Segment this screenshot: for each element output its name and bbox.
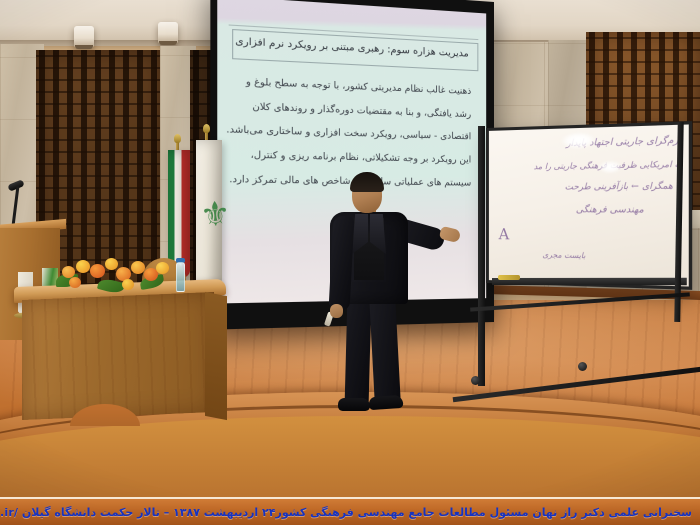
whiteboard-line: بایست مجری [542,250,585,260]
presenter-right-leg [369,295,401,404]
flower-arrangement [52,258,178,292]
whiteboard-glare [598,161,622,174]
presenter-left-leg [345,296,372,407]
whiteboard-letter: A [499,225,510,243]
whiteboard-caster [578,362,587,371]
caption-bar: سخنرانی علمی دکتر راز نهان مسئول مطالعات… [0,497,700,525]
flower [122,279,134,290]
whiteboard-stand-post-left [478,126,485,386]
whiteboard-caster [471,376,480,385]
presenter-left-shoe [338,398,370,411]
caption-details: ۲۴ اردیبهشت ۱۳۸۷ – تالار حکمت دانشگاه گی… [14,506,275,519]
caption-website-url[interactable]: www.guilan.ac.ir [0,506,14,519]
slide-body-line: ذهنیت غالب نظام مدیریتی کشور، با توجه به… [246,77,471,97]
whiteboard-marker-tray [492,278,687,286]
photograph-lecture-hall: مدیریت هزاره سوم: رهبری مبتنی بر رویکرد … [0,0,700,525]
ceiling-downlight-icon [158,22,178,44]
ceiling-downlight-icon [74,26,94,48]
whiteboard-line: مهندسی فرهنگی [576,205,644,216]
flower [131,261,145,274]
whiteboard-line: همگرای ← بازآفرینی طرحت [565,181,673,192]
flower [76,260,90,273]
caption-headline: سخنرانی علمی دکتر راز نهان مسئول مطالعات… [275,506,692,519]
university-emblem-icon: ⚜ [198,184,221,247]
flower [90,264,105,278]
slide-body-line: رشد یافتگی، و بنا به مقتضیات دوره‌گذار و… [252,102,471,120]
whiteboard-marker [498,275,520,280]
whiteboard: نرم‌گرای جاریتی اجتهاد پایدار به امریکای… [486,121,692,290]
water-bottle [176,262,185,292]
presenter-desk-side [205,292,227,420]
slide-body-line: این رویکرد بر وجه تشکیلاتی، نظام برنامه … [251,150,472,165]
flower [105,258,118,270]
presenter-right-shoe [369,395,404,410]
flower [69,277,81,288]
presenter-desk [22,292,214,420]
presenter-left-hand [330,304,343,318]
flag-finial-icon [203,124,210,133]
flower [156,262,169,274]
flag-finial-icon [174,134,181,143]
slide-body-line: اقتصادی - سیاسی، رویکرد سخت افزاری و ساخ… [226,125,471,142]
